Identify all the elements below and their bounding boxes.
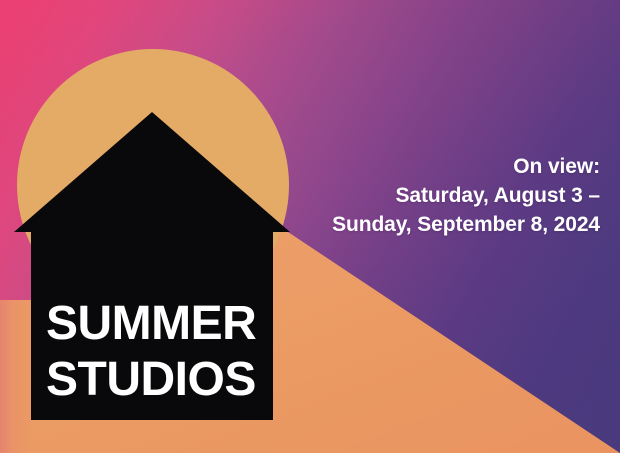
poster-title: SUMMER STUDIOS bbox=[46, 296, 276, 408]
on-view-block: On view: Saturday, August 3 – Sunday, Se… bbox=[332, 152, 600, 239]
poster-title-line-1: SUMMER bbox=[46, 296, 276, 352]
summer-studios-poster: SUMMER STUDIOS On view: Saturday, August… bbox=[0, 0, 620, 453]
on-view-date-start: Saturday, August 3 – bbox=[332, 181, 600, 210]
on-view-date-end: Sunday, September 8, 2024 bbox=[332, 210, 600, 239]
poster-title-line-2: STUDIOS bbox=[46, 352, 276, 408]
on-view-label: On view: bbox=[332, 152, 600, 181]
